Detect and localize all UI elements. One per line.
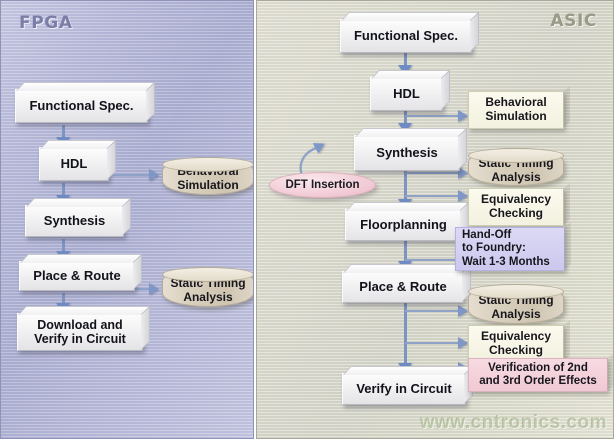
asic-node-behavioral-simulation-label-line2: Simulation	[485, 110, 546, 124]
asic-node-hdl[interactable]: HDL	[370, 77, 443, 111]
fpga-node-download-verify-label-line2: Verify in Circuit	[34, 332, 126, 346]
asic-node-hand-off-foundry-label-line3: Wait 1-3 Months	[462, 256, 550, 269]
arrowhead-fpga-pr-to-sta	[149, 283, 159, 295]
fpga-node-place-route-label: Place & Route	[33, 269, 120, 284]
fpga-node-static-timing-analysis[interactable]: Static Timing Analysis	[162, 267, 254, 307]
arrowhead-asic-synthesis-to-floorplanning	[398, 199, 412, 209]
asic-node-verification-orders-label-line2: and 3rd Order Effects	[479, 375, 597, 388]
asic-node-hand-off-foundry-label-line2: to Foundry:	[462, 242, 526, 255]
connector-asic-synthesis-to-sta1	[405, 172, 461, 174]
fpga-node-synthesis[interactable]: Synthesis	[25, 205, 124, 237]
asic-node-equivalency-checking-1-label-line2: Checking	[489, 207, 543, 221]
asic-node-static-timing-analysis-1-label-line2: Analysis	[491, 171, 540, 185]
fpga-panel: FPGA Functional Spec. HDL Synthesis Plac…	[0, 0, 254, 439]
fpga-node-static-timing-analysis-label-line2: Analysis	[183, 291, 232, 305]
fpga-node-hdl-label: HDL	[61, 157, 88, 172]
asic-node-behavioral-simulation[interactable]: Behavioral Simulation	[468, 91, 564, 129]
asic-node-functional-spec[interactable]: Functional Spec.	[340, 19, 472, 53]
asic-node-static-timing-analysis-1[interactable]: Static Timing Analysis	[468, 148, 564, 186]
asic-node-hdl-label: HDL	[393, 87, 420, 102]
fpga-node-place-route[interactable]: Place & Route	[19, 261, 135, 291]
asic-node-synthesis-label: Synthesis	[376, 146, 437, 161]
connector-asic-pr-to-sta2	[405, 310, 461, 312]
asic-node-floorplanning[interactable]: Floorplanning	[345, 209, 462, 241]
fpga-node-behavioral-simulation-label-line2: Simulation	[177, 179, 238, 193]
asic-node-equivalency-checking-1[interactable]: Equivalency Checking	[468, 188, 564, 226]
asic-node-static-timing-analysis-2[interactable]: Static Timing Analysis	[468, 284, 564, 324]
arrowhead-asic-spec-to-hdl	[398, 65, 412, 75]
connector-asic-handoff-to-spine	[405, 259, 459, 261]
asic-node-verify-in-circuit[interactable]: Verify in Circuit	[342, 373, 466, 405]
arrowhead-asic-floorplanning-to-pr	[398, 261, 412, 271]
fpga-node-behavioral-simulation-label-line1: Behavioral	[177, 165, 238, 179]
connector-asic-pr-to-eq2	[405, 342, 461, 344]
connector-asic-synthesis-to-eq1	[405, 195, 461, 197]
arrowhead-fpga-pr-to-download	[56, 303, 70, 313]
fpga-node-hdl[interactable]: HDL	[39, 147, 109, 181]
fpga-node-static-timing-analysis-label-line1: Static Timing	[170, 277, 245, 291]
arrowhead-asic-dft-to-synthesis	[313, 138, 327, 153]
arrowhead-fpga-spec-to-hdl	[56, 137, 70, 147]
arrowhead-asic-hdl-to-synthesis	[398, 123, 412, 133]
connector-asic-pr-to-verification	[405, 367, 461, 369]
asic-node-verify-in-circuit-label: Verify in Circuit	[356, 382, 451, 397]
fpga-panel-title: FPGA	[19, 13, 73, 33]
asic-node-verification-orders[interactable]: Verification of 2nd and 3rd Order Effect…	[468, 358, 608, 392]
fpga-node-behavioral-simulation[interactable]: Behavioral Simulation	[162, 157, 254, 195]
asic-node-hand-off-foundry-label-line1: Hand-Off	[462, 229, 511, 242]
asic-panel-title: ASIC	[550, 11, 597, 31]
site-watermark: www.cntronics.com	[420, 412, 607, 434]
asic-node-place-route-label: Place & Route	[359, 280, 446, 295]
asic-node-equivalency-checking-1-label-line1: Equivalency	[481, 193, 551, 207]
arrowhead-asic-pr-to-eq2	[458, 337, 468, 349]
asic-node-functional-spec-label: Functional Spec.	[354, 29, 458, 44]
asic-node-dft-insertion-label: DFT Insertion	[285, 179, 359, 191]
asic-node-equivalency-checking-2-label-line1: Equivalency	[481, 330, 551, 344]
asic-node-static-timing-analysis-2-label-line2: Analysis	[491, 308, 540, 322]
asic-node-static-timing-analysis-1-label-line1: Static Timing	[478, 157, 553, 171]
arrowhead-asic-synthesis-to-eq1	[458, 190, 468, 202]
asic-node-verification-orders-label-line1: Verification of 2nd	[488, 362, 588, 375]
asic-node-static-timing-analysis-2-label-line1: Static Timing	[478, 294, 553, 308]
asic-node-equivalency-checking-2-label-line2: Checking	[489, 344, 543, 358]
fpga-node-download-verify[interactable]: Download and Verify in Circuit	[17, 313, 143, 351]
asic-node-hand-off-foundry[interactable]: Hand-Off to Foundry: Wait 1-3 Months	[455, 227, 565, 271]
design-flow-diagram: FPGA Functional Spec. HDL Synthesis Plac…	[0, 0, 614, 439]
arrowhead-asic-hdl-to-behavioral	[458, 110, 468, 122]
asic-node-synthesis[interactable]: Synthesis	[354, 135, 460, 171]
arrowhead-asic-pr-to-sta2	[458, 305, 468, 317]
asic-node-behavioral-simulation-label-line1: Behavioral	[485, 96, 546, 110]
fpga-node-functional-spec-label: Functional Spec.	[29, 99, 133, 114]
connector-asic-pr-to-verify	[404, 303, 407, 371]
arrowhead-fpga-hdl-to-behavioral	[149, 169, 159, 181]
asic-node-floorplanning-label: Floorplanning	[360, 218, 447, 233]
asic-panel: ASIC	[256, 0, 614, 439]
fpga-node-functional-spec[interactable]: Functional Spec.	[15, 89, 148, 123]
fpga-node-download-verify-label-line1: Download and	[37, 318, 122, 332]
asic-node-dft-insertion[interactable]: DFT Insertion	[269, 172, 376, 198]
connector-asic-hdl-to-behavioral	[405, 115, 461, 117]
arrowhead-fpga-synthesis-to-pr	[56, 251, 70, 261]
fpga-node-synthesis-label: Synthesis	[44, 214, 105, 229]
arrowhead-fpga-hdl-to-synthesis	[56, 195, 70, 205]
asic-node-place-route[interactable]: Place & Route	[342, 271, 464, 303]
